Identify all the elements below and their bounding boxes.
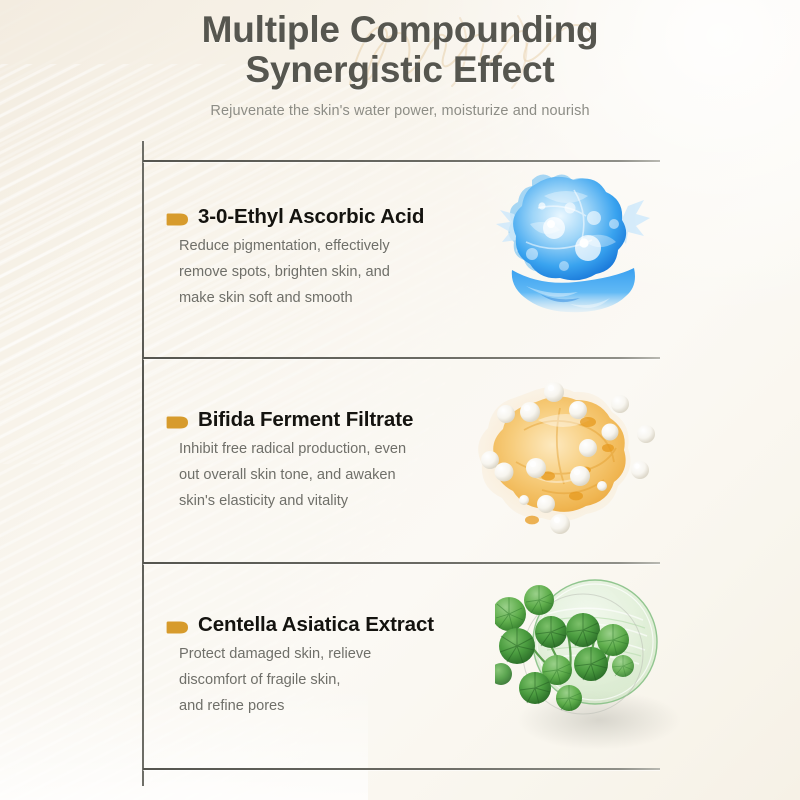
centella-leaves-dish-image	[495, 570, 690, 755]
description-line: remove spots, brighten skin, and	[179, 259, 499, 285]
title-line-1: Multiple Compounding	[202, 9, 599, 50]
description-line: make skin soft and smooth	[179, 285, 499, 311]
infographic-page: Multiple Compounding Synergistic Effect …	[0, 0, 800, 800]
divider-rule-2	[143, 562, 660, 564]
ingredient-name: 3-0-Ethyl Ascorbic Acid	[198, 205, 424, 229]
description-line: and refine pores	[179, 693, 499, 719]
header: Multiple Compounding Synergistic Effect …	[0, 0, 800, 140]
pennant-bullet-icon	[166, 212, 188, 227]
divider-rule-bottom	[143, 768, 660, 770]
description-line: skin's elasticity and vitality	[179, 488, 519, 514]
ingredient-description: Inhibit free radical production, even ou…	[179, 436, 519, 514]
description-line: Reduce pigmentation, effectively	[179, 233, 499, 259]
ingredient-name: Centella Asiatica Extract	[198, 613, 434, 637]
blue-gel-crystal-image	[478, 162, 668, 327]
title-line-2: Synergistic Effect	[0, 50, 800, 90]
pennant-bullet-icon	[166, 415, 188, 430]
frame-vertical-rule	[142, 141, 144, 786]
ingredient-description: Protect damaged skin, relieve discomfort…	[179, 641, 499, 719]
ingredient-description: Reduce pigmentation, effectively remove …	[179, 233, 499, 311]
page-subtitle: Rejuvenate the skin's water power, moist…	[0, 103, 800, 119]
pennant-bullet-icon	[166, 620, 188, 635]
description-line: discomfort of fragile skin,	[179, 667, 499, 693]
description-line: Protect damaged skin, relieve	[179, 641, 499, 667]
page-title: Multiple Compounding Synergistic Effect	[0, 10, 800, 90]
divider-rule-top	[143, 160, 660, 162]
description-line: Inhibit free radical production, even	[179, 436, 519, 462]
description-line: out overall skin tone, and awaken	[179, 462, 519, 488]
ingredient-name: Bifida Ferment Filtrate	[198, 408, 413, 432]
divider-rule-1	[143, 357, 660, 359]
